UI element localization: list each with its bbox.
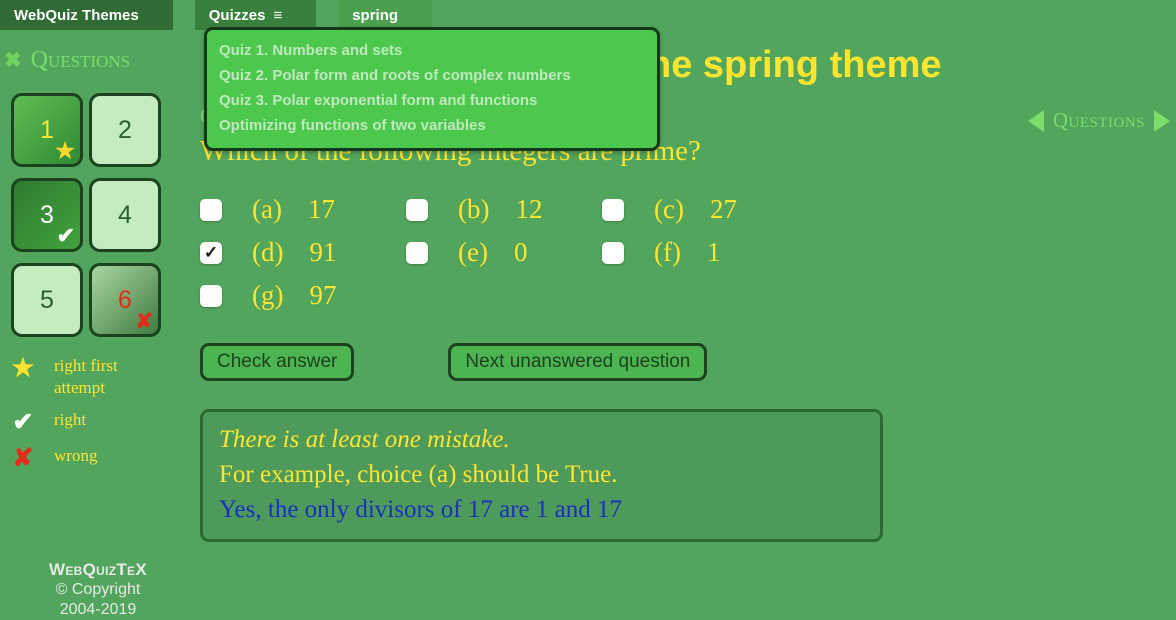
triangle-right-icon[interactable] <box>1154 110 1170 132</box>
question-button-number: 1 <box>40 116 54 145</box>
legend-label: wrong <box>54 445 97 467</box>
legend-label: right first attempt <box>54 355 146 399</box>
sidebar-heading: Questions <box>31 47 131 74</box>
question-button-number: 3 <box>40 201 54 230</box>
question-button-4[interactable]: 4 <box>89 178 161 252</box>
question-button-5[interactable]: 5 <box>11 263 83 337</box>
option-b[interactable]: (b) 12 <box>406 194 602 225</box>
status-legend: ★ right first attempt ✔ right ✘ wrong <box>6 355 196 471</box>
option-value: 27 <box>710 194 737 225</box>
option-label: (e) <box>458 237 488 268</box>
question-button-number: 2 <box>118 116 132 145</box>
breadcrumb-label: Quizzes <box>209 7 266 24</box>
menu-item-quiz-3[interactable]: Quiz 3. Polar exponential form and funct… <box>207 88 657 113</box>
question-button-number: 5 <box>40 286 54 315</box>
menu-item-quiz-2[interactable]: Quiz 2. Polar form and roots of complex … <box>207 63 657 88</box>
footer-years: 2004-2019 <box>0 600 196 620</box>
breadcrumb-label: WebQuiz Themes <box>14 7 139 24</box>
question-button-number: 6 <box>118 286 132 315</box>
quiz-dropdown-menu: Quiz 1. Numbers and sets Quiz 2. Polar f… <box>204 27 660 151</box>
legend-item-wrong: ✘ wrong <box>6 445 196 471</box>
next-unanswered-question-button[interactable]: Next unanswered question <box>448 343 707 381</box>
check-answer-button[interactable]: Check answer <box>200 343 354 381</box>
footer-copyright: © Copyright <box>0 580 196 600</box>
check-icon: ✔ <box>6 409 40 435</box>
feedback-line-1: There is at least one mistake. <box>219 422 864 457</box>
breadcrumb-item-spring[interactable]: spring <box>338 0 432 30</box>
star-icon: ★ <box>55 140 75 162</box>
breadcrumb-item-themes[interactable]: WebQuiz Themes <box>0 0 173 30</box>
option-label: (c) <box>654 194 684 225</box>
cross-icon: ✘ <box>135 311 153 332</box>
breadcrumb-chevron-icon <box>410 0 432 30</box>
option-label: (g) <box>252 280 283 311</box>
option-c[interactable]: (c) 27 <box>602 194 842 225</box>
option-label: (f) <box>654 237 681 268</box>
triangle-left-icon[interactable] <box>1028 110 1044 132</box>
option-a[interactable]: (a) 17 <box>200 194 406 225</box>
option-label: (a) <box>252 194 282 225</box>
option-g[interactable]: (g) 97 <box>200 280 406 311</box>
breadcrumb-chevron-icon <box>151 0 173 30</box>
legend-item-right: ✔ right <box>6 409 196 435</box>
feedback-line-3: Yes, the only divisors of 17 are 1 and 1… <box>219 492 864 527</box>
menu-item-quiz-1[interactable]: Quiz 1. Numbers and sets <box>207 38 657 63</box>
menu-item-optimizing[interactable]: Optimizing functions of two variables <box>207 113 657 138</box>
question-button-2[interactable]: 2 <box>89 93 161 167</box>
hamburger-icon[interactable]: ≡ <box>273 7 282 24</box>
breadcrumb-label: spring <box>352 7 398 24</box>
question-button-1[interactable]: 1 ★ <box>11 93 83 167</box>
option-label: (b) <box>458 194 489 225</box>
option-value: 97 <box>309 280 336 311</box>
questions-nav-label: Questions <box>1053 108 1145 133</box>
option-value: 1 <box>707 237 721 268</box>
sidebar-header: ✖ Questions <box>0 40 196 80</box>
checkbox-f[interactable] <box>602 242 624 264</box>
feedback-panel: There is at least one mistake. For examp… <box>200 409 883 542</box>
option-label: (d) <box>252 237 283 268</box>
action-buttons: Check answer Next unanswered question <box>200 343 1160 381</box>
questions-navigation: Questions <box>1028 108 1170 133</box>
breadcrumb-item-quizzes[interactable]: Quizzes ≡ <box>195 0 316 30</box>
question-button-6[interactable]: 6 ✘ <box>89 263 161 337</box>
option-f[interactable]: (f) 1 <box>602 237 842 268</box>
option-value: 17 <box>308 194 335 225</box>
checkbox-g[interactable] <box>200 285 222 307</box>
legend-label: right <box>54 409 86 431</box>
footer-brand: WebQuizTeX <box>0 560 196 580</box>
legend-item-star: ★ right first attempt <box>6 355 196 399</box>
option-e[interactable]: (e) 0 <box>406 237 602 268</box>
question-button-3[interactable]: 3 ✔ <box>11 178 83 252</box>
question-panel: Question 6 Which of the following intege… <box>200 104 1160 542</box>
checkbox-b[interactable] <box>406 199 428 221</box>
checkbox-a[interactable] <box>200 199 222 221</box>
star-icon: ★ <box>6 355 40 381</box>
cross-icon: ✘ <box>6 445 40 471</box>
option-value: 91 <box>309 237 336 268</box>
option-value: 0 <box>514 237 528 268</box>
option-value: 12 <box>515 194 542 225</box>
checkbox-e[interactable] <box>406 242 428 264</box>
answer-options: (a) 17 (b) 12 (c) 27 ✓ (d) 91 (e) 0 (f) … <box>200 194 1160 311</box>
sidebar: ✖ Questions 1 ★ 2 3 ✔ 4 5 6 ✘ ★ right fi… <box>0 40 196 481</box>
checkbox-d[interactable]: ✓ <box>200 242 222 264</box>
checkbox-c[interactable] <box>602 199 624 221</box>
breadcrumb: WebQuiz Themes Quizzes ≡ spring <box>0 0 1176 30</box>
question-button-grid: 1 ★ 2 3 ✔ 4 5 6 ✘ <box>11 93 196 337</box>
feedback-line-2: For example, choice (a) should be True. <box>219 457 864 492</box>
page-title: he spring theme <box>648 44 942 87</box>
footer: WebQuizTeX © Copyright 2004-2019 <box>0 560 196 620</box>
check-icon: ✔ <box>57 225 75 247</box>
breadcrumb-chevron-icon <box>294 0 316 30</box>
question-button-number: 4 <box>118 201 132 230</box>
close-icon[interactable]: ✖ <box>4 50 22 71</box>
option-d[interactable]: ✓ (d) 91 <box>200 237 406 268</box>
